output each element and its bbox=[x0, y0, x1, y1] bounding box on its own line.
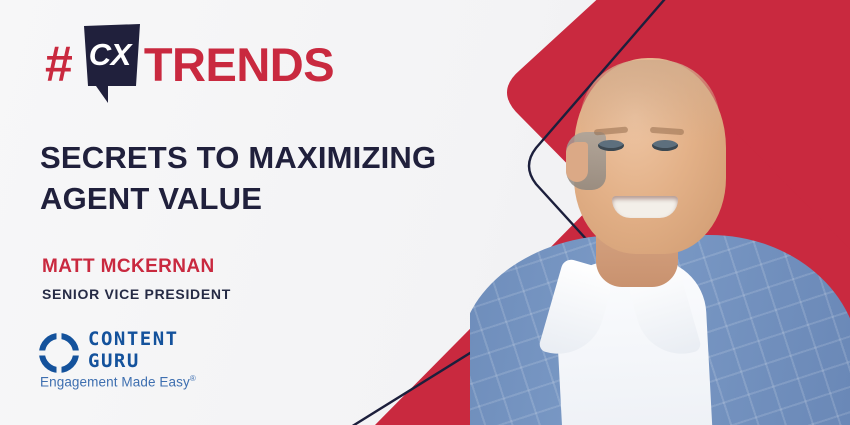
cx-badge-label: CX bbox=[78, 24, 142, 86]
trends-label: TRENDS bbox=[144, 41, 334, 88]
headline-line-1: SECRETS TO MAXIMIZING bbox=[40, 138, 510, 179]
speaker-title: SENIOR VICE PRESIDENT bbox=[42, 286, 231, 302]
headline-line-2: AGENT VALUE bbox=[40, 179, 510, 220]
promo-slide: # CX TRENDS SECRETS TO MAXIMIZING AGENT … bbox=[0, 0, 850, 425]
portrait-mouth bbox=[612, 196, 678, 218]
company-name-bottom: GURU bbox=[88, 352, 179, 371]
portrait-eye-left bbox=[598, 140, 624, 151]
speaker-name: MATT MCKERNAN bbox=[42, 256, 215, 278]
registered-mark-icon: ® bbox=[190, 374, 196, 383]
hash-symbol: # bbox=[45, 39, 72, 89]
portrait-ear bbox=[566, 142, 588, 182]
company-wordmark: CONTENT GURU bbox=[88, 330, 179, 371]
company-tagline: Engagement Made Easy® bbox=[40, 374, 196, 390]
page-title: SECRETS TO MAXIMIZING AGENT VALUE bbox=[40, 138, 510, 220]
content-guru-ring-icon bbox=[38, 332, 80, 374]
speaker-portrait bbox=[470, 0, 850, 425]
cx-badge: CX bbox=[78, 24, 142, 104]
company-name-top: CONTENT bbox=[88, 328, 179, 350]
cx-trends-logo: # CX TRENDS bbox=[45, 24, 334, 104]
portrait-eye-right bbox=[652, 140, 678, 151]
company-logo: CONTENT GURU Engagement Made Easy® bbox=[38, 330, 238, 392]
company-tagline-text: Engagement Made Easy bbox=[40, 375, 190, 390]
